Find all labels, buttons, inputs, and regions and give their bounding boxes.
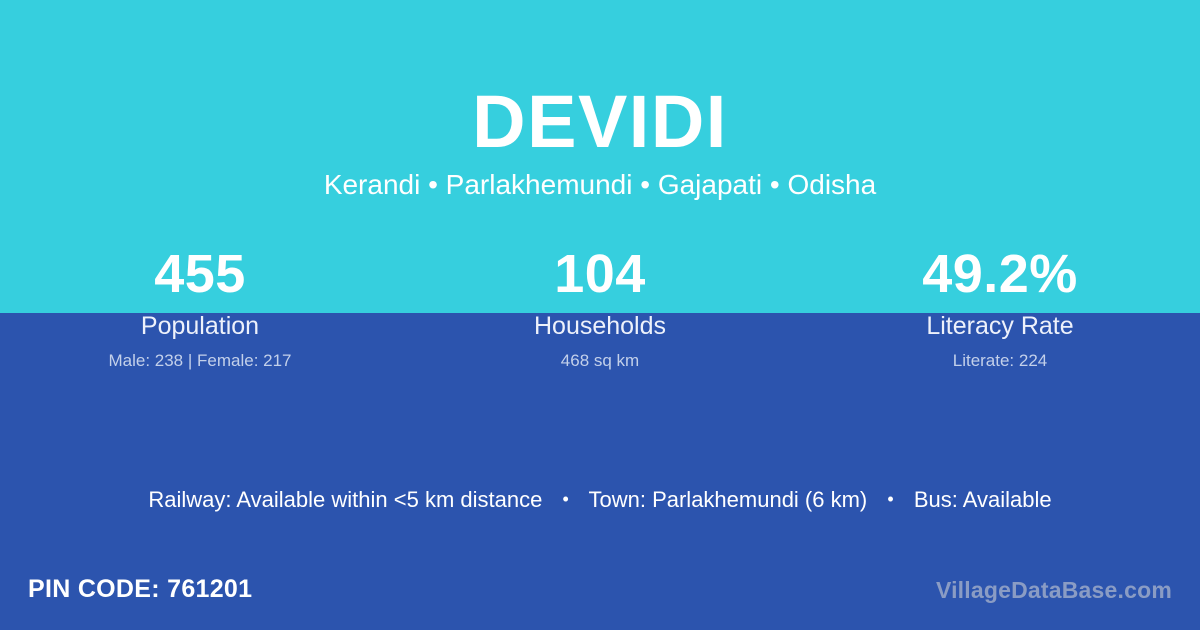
page-title: DEVIDI (0, 0, 1200, 162)
pin-code: PIN CODE: 761201 (28, 574, 252, 604)
breadcrumb: Kerandi • Parlakhemundi • Gajapati • Odi… (0, 162, 1200, 202)
population-breakdown: Male: 238 | Female: 217 (0, 350, 400, 371)
village-info-card: DEVIDI Kerandi • Parlakhemundi • Gajapat… (0, 0, 1200, 630)
infra-nearest-town: Town: Parlakhemundi (6 km) (588, 487, 867, 512)
bullet-separator-icon: • (548, 484, 582, 514)
population-value: 455 (0, 243, 400, 305)
stat-block-population: 455 Population Male: 238 | Female: 217 (0, 243, 400, 371)
population-label: Population (0, 311, 400, 341)
brand-watermark: VillageDataBase.com (936, 575, 1172, 605)
literacy-rate-label: Literacy Rate (800, 311, 1200, 341)
households-label: Households (400, 311, 800, 341)
infra-railway: Railway: Available within <5 km distance (148, 487, 542, 512)
literacy-rate-value: 49.2% (800, 243, 1200, 305)
card-footer: PIN CODE: 761201 VillageDataBase.com (0, 552, 1200, 630)
stat-block-households: 104 Households 468 sq km (400, 243, 800, 371)
households-value: 104 (400, 243, 800, 305)
bullet-separator-icon: • (873, 484, 907, 514)
infra-bus: Bus: Available (914, 487, 1052, 512)
stat-block-literacy: 49.2% Literacy Rate Literate: 224 (800, 243, 1200, 371)
stats-row: 455 Population Male: 238 | Female: 217 1… (0, 243, 1200, 371)
infrastructure-row: Railway: Available within <5 km distance… (0, 484, 1200, 515)
area-value: 468 sq km (400, 350, 800, 371)
literate-count: Literate: 224 (800, 350, 1200, 371)
card-header: DEVIDI Kerandi • Parlakhemundi • Gajapat… (0, 0, 1200, 202)
